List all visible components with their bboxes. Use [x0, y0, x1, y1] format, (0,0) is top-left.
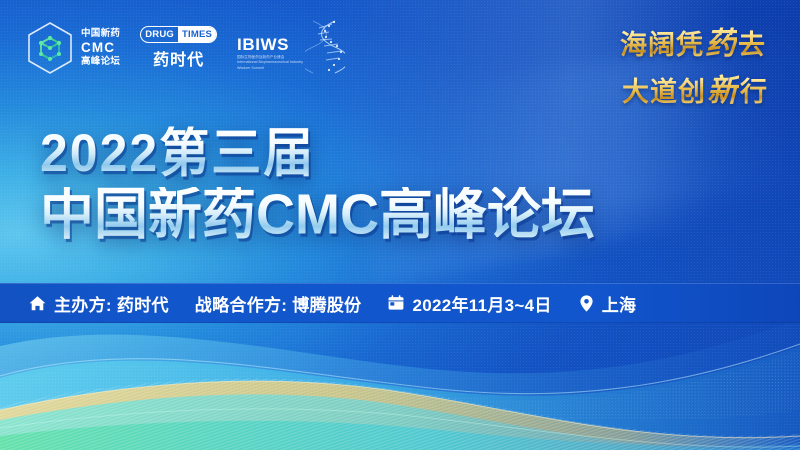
slogan-line2-part-a: 大道创 [622, 70, 706, 109]
event-title: 2022第三届 中国新药CMC高峰论坛 [40, 128, 595, 242]
info-partner-text: 战略合作方: 博腾股份 [195, 291, 362, 316]
event-info-bar: 主办方: 药时代 战略合作方: 博腾股份 2022年11月3~4日 [0, 283, 800, 323]
slogan-line2-brush: 新 [707, 65, 739, 110]
info-location-text: 上海 [602, 291, 637, 316]
ibiws-logo[interactable]: IBIWS 国际生物医药及新药产业峰会 International Biopha… [237, 19, 345, 77]
calendar-icon [387, 294, 405, 312]
event-title-line-2: 中国新药CMC高峰论坛 [40, 187, 595, 243]
gold-slogan: 海阔凭 药 去 大道创 新 行 [620, 18, 766, 110]
slogan-line2-part-b: 行 [740, 70, 768, 109]
slogan-line-2: 大道创 新 行 [622, 65, 768, 110]
drug-times-right-label: TIMES [178, 27, 216, 42]
location-pin-icon [578, 294, 595, 313]
drug-times-cn-name: 药时代 [153, 46, 204, 70]
info-item-strategic-partner: 战略合作方: 博腾股份 [195, 291, 362, 316]
event-title-line-1: 2022第三届 [40, 127, 595, 180]
drug-times-left-label: DRUG [141, 27, 178, 42]
cmc-logo-line3: 高峰论坛 [81, 57, 120, 68]
ibiws-wordmark: IBIWS [237, 35, 303, 55]
cmc-logo-line1: 中国新药 [81, 29, 120, 40]
info-item-date: 2022年11月3~4日 [387, 291, 551, 316]
home-icon [28, 294, 47, 313]
slogan-line1-brush: 药 [705, 18, 737, 63]
hexagon-molecule-cube-icon [26, 21, 74, 75]
info-date-text: 2022年11月3~4日 [412, 291, 551, 316]
capsule-pill-icon: DRUG TIMES [140, 26, 217, 43]
slogan-line-1: 海阔凭 药 去 [620, 18, 766, 63]
dna-helix-icon [305, 19, 345, 77]
sponsor-logo-row: 中国新药 CMC 高峰论坛 DRUG TIMES 药时代 IBIWS 国际生物医… [26, 18, 345, 78]
conference-banner: 中国新药 CMC 高峰论坛 DRUG TIMES 药时代 IBIWS 国际生物医… [0, 0, 800, 450]
cmc-logo-line2: CMC [81, 40, 120, 55]
slogan-line1-part-a: 海阔凭 [620, 23, 704, 62]
drug-times-logo[interactable]: DRUG TIMES 药时代 [140, 26, 217, 70]
info-item-location: 上海 [578, 291, 637, 316]
slogan-line1-part-b: 去 [738, 23, 766, 62]
info-item-organizer: 主办方: 药时代 [28, 291, 169, 316]
info-organizer-text: 主办方: 药时代 [54, 291, 169, 316]
ibiws-subtitle-en2: Wisdom Summit [237, 66, 303, 71]
cmc-forum-logo[interactable]: 中国新药 CMC 高峰论坛 [26, 21, 120, 75]
